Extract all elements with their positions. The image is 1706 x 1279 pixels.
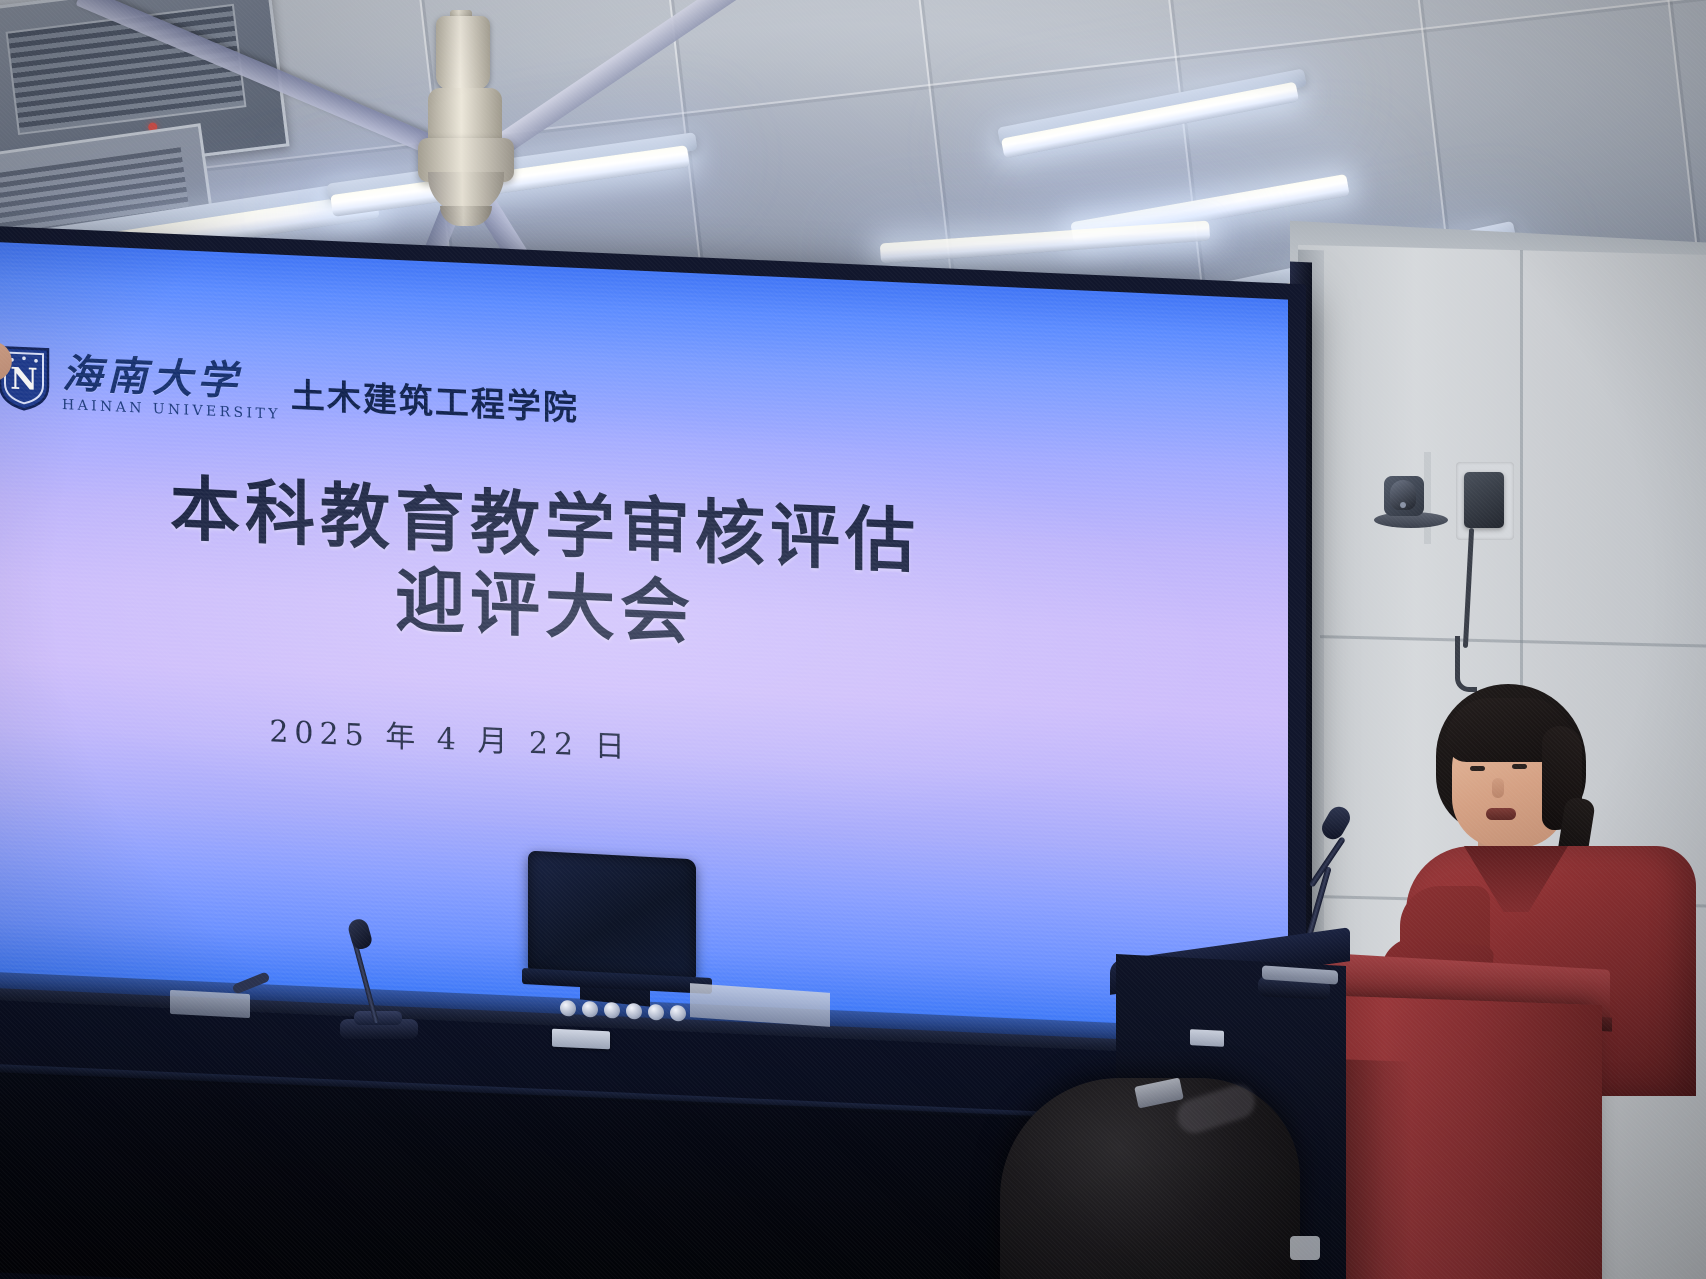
desk-monitor-icon bbox=[528, 855, 708, 1015]
photo-scene: N 海南大学 HAINAN UNIVERSITY 土木建筑工程学院 本科教育教学… bbox=[0, 0, 1706, 1279]
speaker-mouth bbox=[1486, 808, 1516, 820]
slide-brand-bar: N 海南大学 HAINAN UNIVERSITY 土木建筑工程学院 bbox=[0, 344, 579, 436]
camera-body bbox=[1384, 476, 1424, 516]
power-cable-bend bbox=[1455, 636, 1477, 692]
control-button[interactable] bbox=[582, 1001, 598, 1018]
speaker-eye bbox=[1470, 766, 1485, 771]
ptz-camera-icon bbox=[1372, 468, 1450, 532]
control-panel-label bbox=[552, 1029, 610, 1050]
control-button[interactable] bbox=[626, 1003, 642, 1020]
lectern-label bbox=[1190, 1029, 1224, 1047]
camera-led bbox=[1400, 502, 1406, 508]
control-button[interactable] bbox=[670, 1005, 686, 1022]
power-adapter-icon bbox=[1464, 472, 1504, 528]
monitor-screen[interactable] bbox=[528, 851, 696, 980]
microphone-capsule bbox=[346, 917, 373, 951]
camera-mount-arm bbox=[1424, 452, 1431, 544]
speaker-eye bbox=[1512, 764, 1527, 769]
slide-title: 本科教育教学审核评估 迎评大会 bbox=[0, 460, 1288, 680]
slide-date: 2025 年 4 月 22 日 bbox=[0, 694, 1288, 796]
gooseneck-microphone-icon bbox=[330, 915, 420, 1045]
svg-text:N: N bbox=[10, 362, 37, 398]
audience-head-icon bbox=[1000, 1078, 1300, 1279]
control-button[interactable] bbox=[648, 1004, 664, 1021]
brand-text-column: 海南大学 HAINAN UNIVERSITY bbox=[62, 354, 281, 423]
college-name-cn: 土木建筑工程学院 bbox=[291, 368, 579, 430]
speaker-nose bbox=[1492, 778, 1504, 798]
foreground-object bbox=[1290, 1236, 1320, 1260]
university-name-cn: 海南大学 bbox=[62, 354, 281, 404]
desk-device bbox=[170, 990, 250, 1018]
control-button[interactable] bbox=[604, 1002, 620, 1019]
fan-canopy bbox=[436, 16, 490, 90]
control-button[interactable] bbox=[560, 1000, 576, 1017]
